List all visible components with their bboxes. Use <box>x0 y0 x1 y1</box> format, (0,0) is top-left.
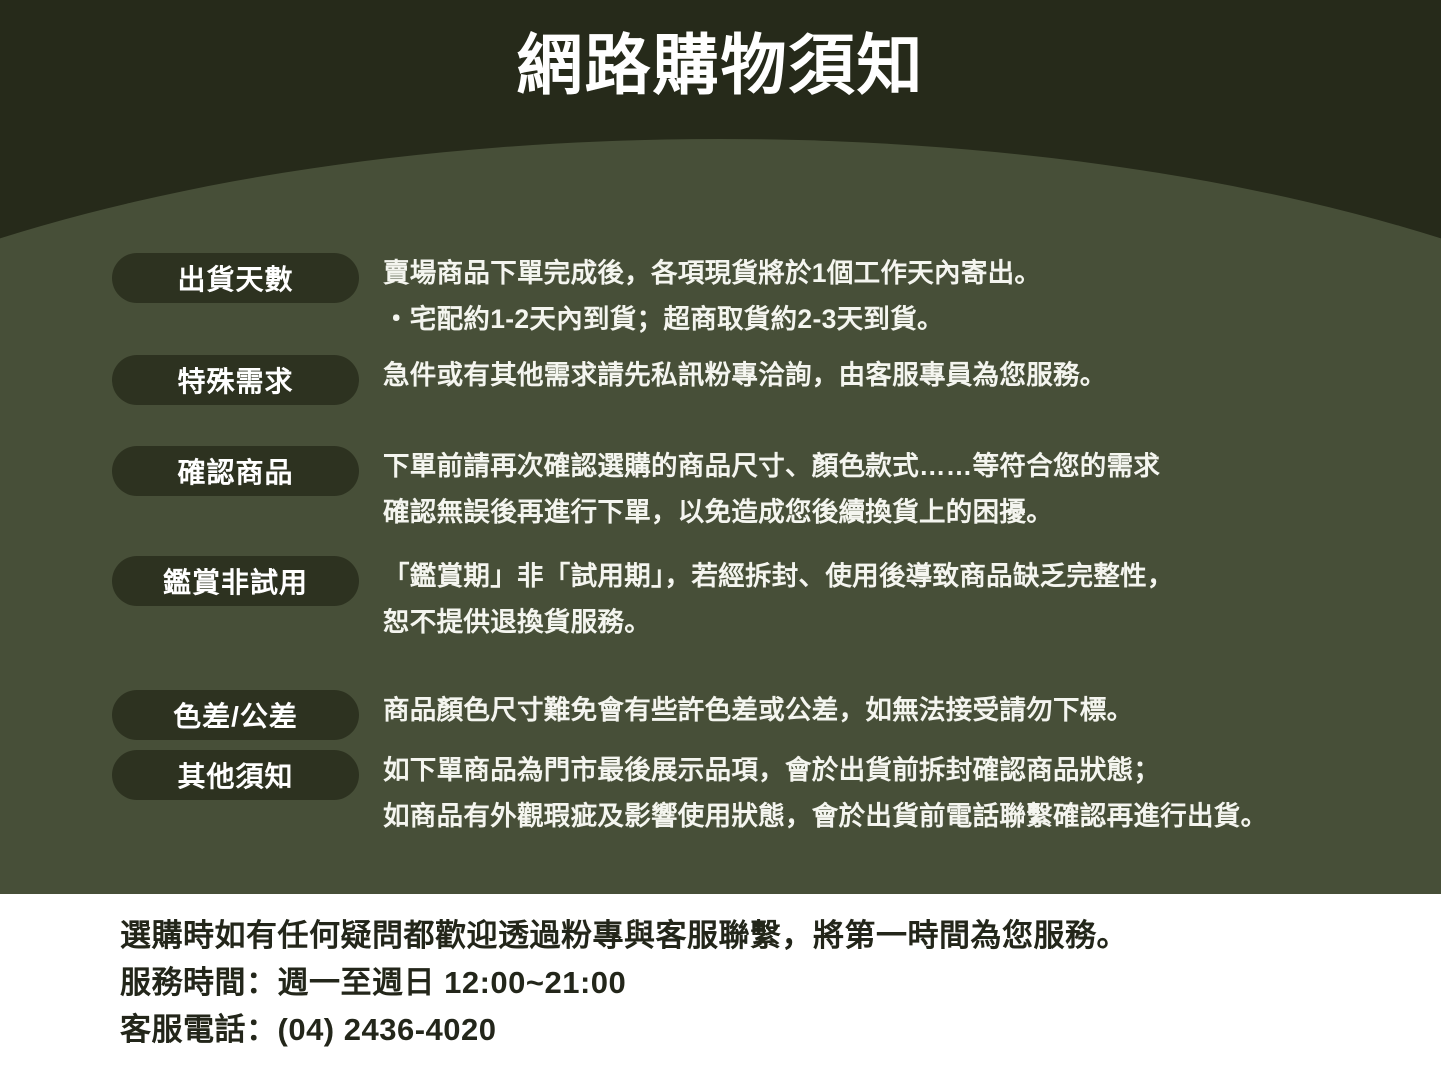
section-body-special-request: 急件或有其他需求請先私訊粉專洽詢，由客服專員為您服務。 <box>383 352 1423 398</box>
body-line: 恕不提供退換貨服務。 <box>383 599 1423 645</box>
section-body-color-size-tolerance: 商品顏色尺寸難免會有些許色差或公差，如無法接受請勿下標。 <box>383 687 1423 733</box>
footer-line-contact: 選購時如有任何疑問都歡迎透過粉專與客服聯繫，將第一時間為您服務。 <box>120 912 1441 959</box>
footer-contact-block: 選購時如有任何疑問都歡迎透過粉專與客服聯繫，將第一時間為您服務。 服務時間：週一… <box>0 894 1441 1080</box>
body-line: 賣場商品下單完成後，各項現貨將於1個工作天內寄出。 <box>383 250 1423 296</box>
body-line: 下單前請再次確認選購的商品尺寸、顏色款式……等符合您的需求 <box>383 443 1423 489</box>
footer-line-phone: 客服電話：(04) 2436-4020 <box>120 1006 1441 1053</box>
section-body-confirm-product: 下單前請再次確認選購的商品尺寸、顏色款式……等符合您的需求 確認無誤後再進行下單… <box>383 443 1423 535</box>
section-body-inspection-not-trial: 「鑑賞期」非「試用期」，若經拆封、使用後導致商品缺乏完整性， 恕不提供退換貨服務… <box>383 553 1423 645</box>
section-label-inspection-not-trial: 鑑賞非試用 <box>112 556 359 606</box>
section-label-color-size-tolerance: 色差/公差 <box>112 690 359 740</box>
section-body-other-notes: 如下單商品為門市最後展示品項，會於出貨前拆封確認商品狀態； 如商品有外觀瑕疵及影… <box>383 747 1423 839</box>
section-label-confirm-product: 確認商品 <box>112 446 359 496</box>
body-line: 如下單商品為門市最後展示品項，會於出貨前拆封確認商品狀態； <box>383 747 1423 793</box>
section-label-special-request: 特殊需求 <box>112 355 359 405</box>
body-line: 急件或有其他需求請先私訊粉專洽詢，由客服專員為您服務。 <box>383 352 1423 398</box>
footer-line-service-hours: 服務時間：週一至週日 12:00~21:00 <box>120 959 1441 1006</box>
body-line: 如商品有外觀瑕疵及影響使用狀態，會於出貨前電話聯繫確認再進行出貨。 <box>383 793 1423 839</box>
body-line: 確認無誤後再進行下單，以免造成您後續換貨上的困擾。 <box>383 489 1423 535</box>
section-label-shipping-days: 出貨天數 <box>112 253 359 303</box>
shopping-notice-page: 網路購物須知 出貨天數 賣場商品下單完成後，各項現貨將於1個工作天內寄出。 ・宅… <box>0 0 1441 1080</box>
section-body-shipping-days: 賣場商品下單完成後，各項現貨將於1個工作天內寄出。 ・宅配約1-2天內到貨；超商… <box>383 250 1423 342</box>
body-line: ・宅配約1-2天內到貨；超商取貨約2-3天到貨。 <box>383 296 1423 342</box>
body-line: 商品顏色尺寸難免會有些許色差或公差，如無法接受請勿下標。 <box>383 687 1423 733</box>
notice-section-list: 出貨天數 賣場商品下單完成後，各項現貨將於1個工作天內寄出。 ・宅配約1-2天內… <box>0 0 1441 894</box>
body-line: 「鑑賞期」非「試用期」，若經拆封、使用後導致商品缺乏完整性， <box>383 553 1423 599</box>
section-label-other-notes: 其他須知 <box>112 750 359 800</box>
